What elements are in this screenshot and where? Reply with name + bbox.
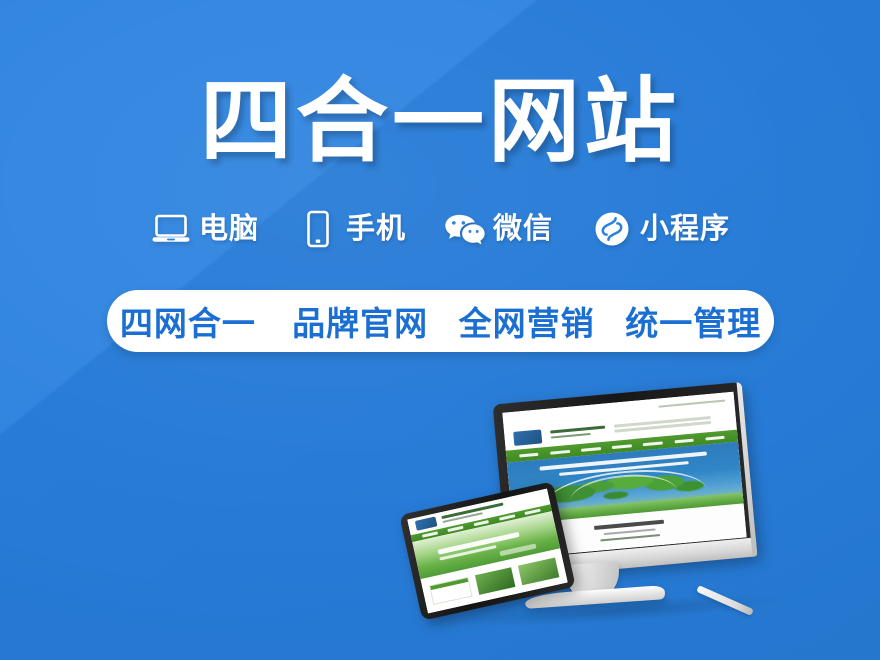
wechat-icon: [444, 208, 486, 250]
nav-item: [705, 435, 725, 440]
feature-list: 电脑 手机 微信: [0, 203, 880, 255]
promo-banner: 四合一网站 电脑 手机: [0, 0, 880, 660]
feature-item-computer[interactable]: 电脑: [150, 208, 259, 250]
mobile-hero-headline: [437, 532, 521, 564]
stylus-accessory: [696, 585, 754, 616]
website-topbar-links: [658, 400, 725, 408]
device-mockup-group: [395, 385, 795, 660]
tagline-segment-2: 品牌官网: [292, 305, 428, 342]
mobile-thumbnail-2: [518, 557, 559, 585]
feature-label-mobile: 手机: [346, 213, 406, 245]
feature-item-mobile[interactable]: 手机: [297, 208, 406, 250]
footer-links: [600, 534, 660, 542]
nav-item: [550, 450, 570, 455]
tagline-segment-3: 全网营销: [459, 305, 595, 342]
tagline-segment-4: 统一管理: [625, 305, 761, 342]
website-logo-text: [550, 425, 606, 440]
feature-label-computer: 电脑: [199, 213, 259, 245]
mobile-phone-icon: [297, 208, 339, 250]
website-logo: [513, 430, 542, 446]
tagline-spacer-3: [605, 305, 615, 342]
nav-item: [581, 447, 601, 452]
feature-label-mini-program: 小程序: [640, 213, 730, 245]
feature-item-wechat[interactable]: 微信: [444, 208, 553, 250]
footer-subtext: [604, 528, 655, 535]
mobile-content-card: [429, 576, 472, 604]
tagline-text: 四网合一 品牌官网 全网营销 统一管理: [120, 297, 761, 345]
nav-item: [674, 438, 694, 443]
feature-label-wechat: 微信: [493, 213, 553, 245]
mini-program-icon: [591, 208, 633, 250]
nav-item: [643, 441, 663, 446]
laptop-icon: [150, 208, 192, 250]
feature-item-mini-program[interactable]: 小程序: [591, 208, 730, 250]
mobile-thumbnail: [474, 567, 515, 595]
nav-item: [612, 444, 632, 449]
mobile-website-logo: [415, 517, 437, 531]
nav-item: [519, 452, 539, 457]
tagline-spacer-2: [438, 305, 448, 342]
page-title: 四合一网站: [0, 70, 880, 175]
tagline-segment-1: 四网合一: [120, 305, 256, 342]
tagline-pill[interactable]: 四网合一 品牌官网 全网营销 统一管理: [107, 290, 774, 352]
